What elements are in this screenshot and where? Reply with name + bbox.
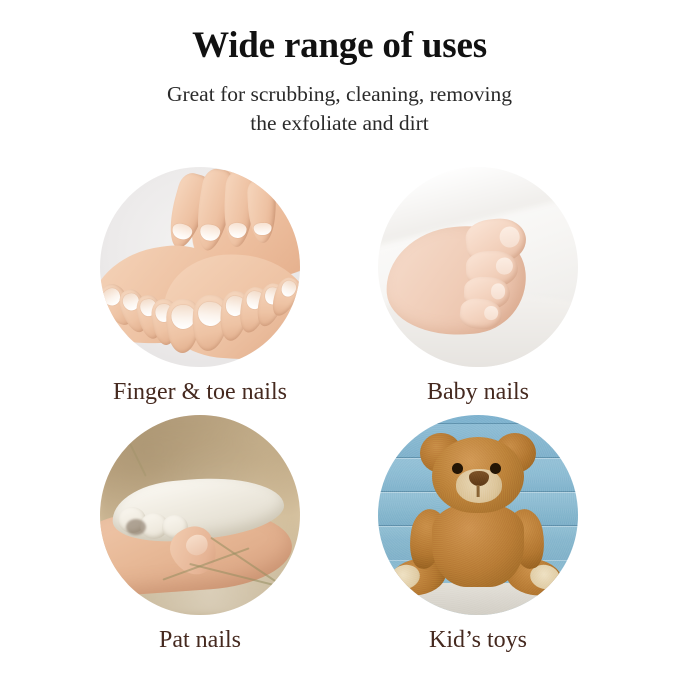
feet-and-hand-scene <box>100 167 300 367</box>
fingernail-shape <box>228 222 248 238</box>
baby-toenail-shape <box>490 284 505 300</box>
baby-foot-scene <box>378 167 578 367</box>
bear-mouth <box>477 485 480 497</box>
use-case-grid: Finger & toe nails Baby nails <box>0 167 679 663</box>
promotional-graphic: Wide range of uses Great for scrubbing, … <box>0 0 679 679</box>
use-case-card-pat-nails: Pat nails <box>80 415 320 655</box>
page-subtitle: Great for scrubbing, cleaning, removing … <box>110 80 570 138</box>
baby-toenail-shape <box>498 225 520 248</box>
toenail-shape <box>278 279 298 300</box>
bear-body <box>432 503 524 587</box>
paw-pad-shape <box>126 519 146 535</box>
use-case-caption: Baby nails <box>358 377 598 407</box>
fingernail-shape <box>254 222 272 235</box>
use-case-row-1: Finger & toe nails Baby nails <box>0 167 679 415</box>
baby-toenail-shape <box>496 257 513 275</box>
fingernail-shape <box>199 223 221 243</box>
use-case-row-2: Pat nails <box>0 415 679 663</box>
page-title: Wide range of uses <box>0 24 679 68</box>
baby-foot-photo <box>378 167 578 367</box>
use-case-card-baby-nails: Baby nails <box>358 167 598 407</box>
bear-eye-left <box>452 463 463 474</box>
teddy-bear-photo <box>378 415 578 615</box>
use-case-caption: Pat nails <box>80 625 320 655</box>
dog-paw-in-hand-photo <box>100 415 300 615</box>
use-case-caption: Kid’s toys <box>358 625 598 655</box>
page-subtitle-line-1: Great for scrubbing, cleaning, removing <box>167 82 512 106</box>
use-case-card-finger-toe-nails: Finger & toe nails <box>80 167 320 407</box>
page-subtitle-line-2: the exfoliate and dirt <box>250 111 429 135</box>
toenail-shape <box>171 305 196 330</box>
fingernail-shape <box>171 221 194 241</box>
teddy-bear-scene <box>378 415 578 615</box>
use-case-card-kids-toys: Kid’s toys <box>358 415 598 655</box>
header: Wide range of uses Great for scrubbing, … <box>0 24 679 138</box>
bear-eye-right <box>490 463 501 474</box>
baby-toenail-shape <box>484 305 499 321</box>
use-case-caption: Finger & toe nails <box>80 377 320 407</box>
dog-paw-scene <box>100 415 300 615</box>
feet-and-hand-photo <box>100 167 300 367</box>
